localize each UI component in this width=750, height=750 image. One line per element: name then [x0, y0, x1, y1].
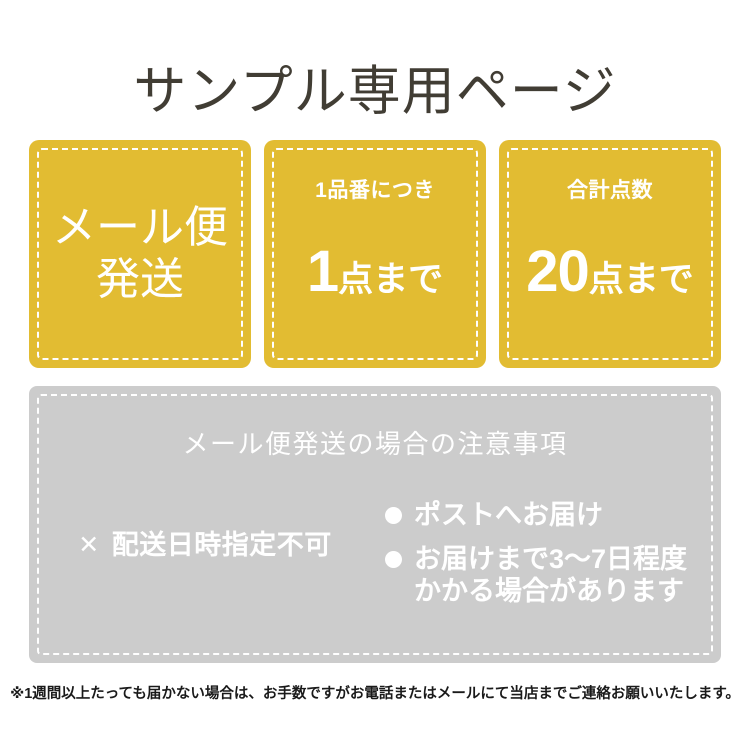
total-limit-caption: 合計点数 — [567, 180, 653, 201]
sample-shipping-banner: サンプル専用ページ メール便 発送 1品番につき 1 点まで 合計点数 20 点… — [0, 0, 750, 750]
per-item-limit-unit: 点まで — [338, 262, 443, 297]
shipping-method-line1: メール便 — [52, 202, 228, 254]
no-delivery-date-label: 配送日時指定不可 — [112, 532, 332, 559]
cross-icon: ✕ — [78, 533, 99, 558]
page-title: サンプル専用ページ — [0, 62, 750, 123]
per-item-limit-caption: 1品番につき — [315, 180, 435, 201]
notice-bullet-item: ポストへお届け — [385, 500, 721, 532]
notice-bullet-item: お届けまで3〜7日程度 かかる場合があります — [385, 544, 721, 608]
notice-bullet-text: お届けまで3〜7日程度 かかる場合があります — [414, 544, 687, 608]
notice-right-column: ポストへお届け お届けまで3〜7日程度 かかる場合があります — [381, 500, 721, 620]
per-item-limit-number: 1 — [307, 243, 338, 301]
total-limit-number: 20 — [526, 243, 589, 301]
shipping-method-line2: 発送 — [96, 254, 184, 306]
info-cards-row: メール便 発送 1品番につき 1 点まで 合計点数 20 点まで — [29, 140, 721, 368]
card-per-item-limit: 1品番につき 1 点まで — [264, 140, 486, 368]
notice-left-column: ✕ 配送日時指定不可 — [29, 500, 381, 559]
total-limit-unit: 点まで — [589, 262, 694, 297]
notice-bullet-text: ポストへお届け — [414, 500, 603, 532]
total-limit-value: 20 点まで — [526, 243, 694, 301]
notice-heading: メール便発送の場合の注意事項 — [0, 432, 750, 458]
card-shipping-method: メール便 発送 — [29, 140, 251, 368]
no-delivery-date-item: ✕ 配送日時指定不可 — [78, 532, 331, 559]
bullet-dot-icon — [385, 507, 402, 524]
per-item-limit-value: 1 点まで — [307, 243, 443, 301]
card-total-limit: 合計点数 20 点まで — [499, 140, 721, 368]
bullet-dot-icon — [385, 551, 402, 568]
notice-body: ✕ 配送日時指定不可 ポストへお届け お届けまで3〜7日程度 かかる場合がありま… — [29, 500, 721, 645]
footnote-text: ※1週間以上たっても届かない場合は、お手数ですがお電話またはメールにて当店までご… — [0, 686, 750, 703]
